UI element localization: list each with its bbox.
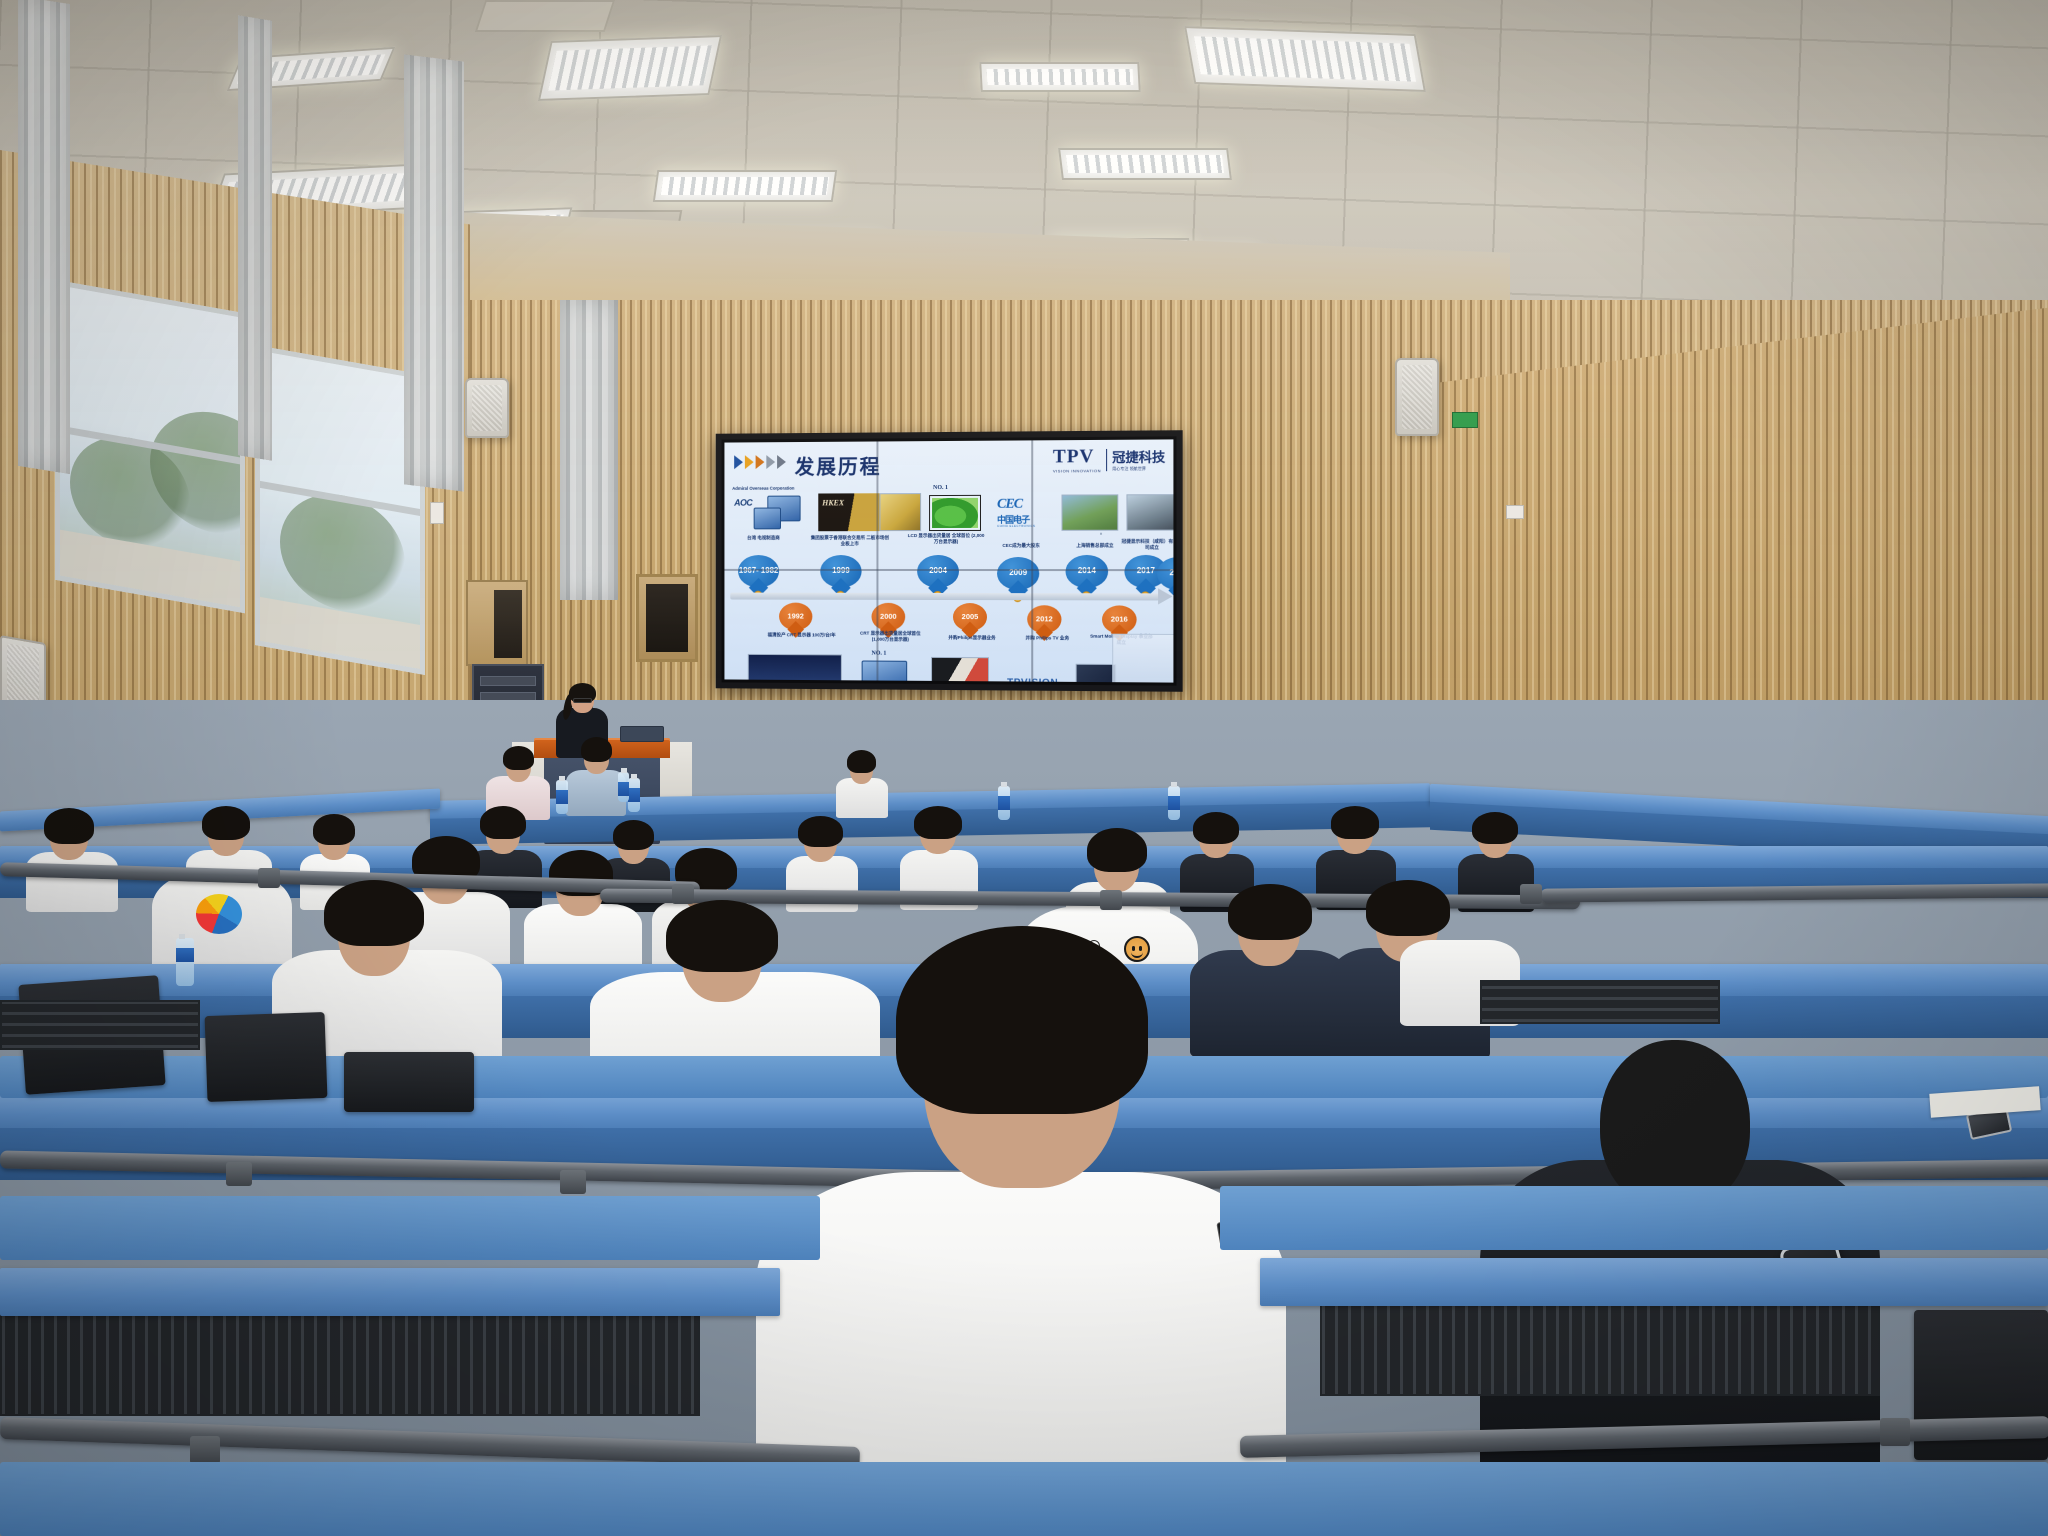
tpv-tagline-en: VISION INNOVATION	[1053, 468, 1101, 473]
ceiling-light-fixture	[979, 62, 1141, 92]
audience-member	[566, 736, 626, 812]
slide-body: Admiral Overseas Corporation AOC HKEX NO…	[724, 480, 1173, 683]
water-bottle[interactable]	[556, 780, 568, 814]
chair-back[interactable]	[205, 1012, 328, 1102]
water-bottle[interactable]	[628, 778, 640, 812]
tpv-wordmark: TPV	[1053, 446, 1101, 468]
timeline-caption: 福清投产 CRT 显示器 100万/台/年	[763, 632, 840, 638]
audience-member-colorwheel-tee	[152, 846, 292, 966]
water-bottle[interactable]	[1168, 786, 1180, 820]
window	[255, 345, 425, 675]
logo-divider	[1106, 448, 1107, 470]
ceiling-vent	[475, 0, 615, 32]
spacer	[1100, 533, 1102, 535]
tpv-wordmark-cn: 冠捷科技	[1112, 447, 1165, 467]
crt-monitor-graphic	[862, 661, 908, 683]
window	[55, 280, 245, 614]
desk-grate-shelf	[1320, 1300, 1880, 1396]
timeline-caption: 上海销售总部成立	[1061, 543, 1128, 549]
podium-monitor[interactable]	[620, 726, 664, 742]
water-bottle[interactable]	[998, 786, 1010, 820]
water-bottle[interactable]	[618, 772, 629, 802]
ceiling-light-fixture	[653, 170, 837, 202]
timeline-caption: CRT 显示器出货量居全球首位 (1,000万台显示器)	[856, 631, 925, 643]
glasses-icon	[573, 698, 592, 703]
presentation-slide: 发展历程 TPV VISION INNOVATION 冠捷科技 用心专注 领航世…	[724, 439, 1173, 682]
video-wall-display[interactable]: 发展历程 TPV VISION INNOVATION 冠捷科技 用心专注 领航世…	[716, 430, 1183, 692]
tshirt-graphic	[196, 894, 242, 934]
timeline-pin-blue: 1967- 1982	[738, 555, 779, 595]
water-bottle[interactable]	[176, 938, 194, 986]
ceiling-light-fixture	[1184, 26, 1426, 92]
timeline-pin-orange: 2005	[953, 603, 987, 637]
light-switch-plate[interactable]	[430, 502, 444, 524]
ceiling-light-fixture	[1058, 148, 1232, 180]
rail-clamp	[1880, 1418, 1910, 1446]
panel-bezel	[724, 569, 1173, 571]
av-cabinet	[466, 580, 528, 666]
aoc-logo: AOC	[734, 498, 752, 508]
tpv-brand-logo: TPV VISION INNOVATION 冠捷科技 用心专注 领航世界	[1053, 446, 1165, 474]
rail-clamp	[1100, 890, 1122, 910]
timeline-pin-blue: 2004	[917, 555, 959, 595]
rail-clamp	[1520, 884, 1542, 904]
bench-row	[1220, 1186, 2048, 1250]
ceremony-photo	[748, 654, 842, 683]
timeline-pin-blue: 2014	[1066, 555, 1109, 595]
chevron-arrows-icon	[734, 455, 786, 469]
curtain[interactable]	[18, 0, 70, 474]
curtain[interactable]	[238, 15, 272, 460]
timeline-caption: 并购Philips显示器业务	[939, 635, 1005, 641]
xianyang-factory-photo	[1126, 494, 1173, 531]
panel-bezel	[1031, 440, 1033, 681]
slide-reflection-panel	[1112, 634, 1173, 683]
panel-bezel	[876, 441, 878, 680]
rail-clamp	[560, 1170, 586, 1194]
hkex-photo: HKEX	[818, 493, 881, 531]
timeline-caption: CEC成为最大股东	[985, 543, 1057, 549]
lecture-hall-photo: 发展历程 TPV VISION INNOVATION 冠捷科技 用心专注 领航世…	[0, 0, 2048, 1536]
timeline-year: 2020	[1157, 557, 1173, 590]
philips-products-photo	[931, 657, 989, 683]
slide-header: 发展历程 TPV VISION INNOVATION 冠捷科技 用心专注 领航世…	[724, 439, 1173, 484]
timeline-pin-blue: 1999	[820, 555, 861, 595]
exit-sign	[1452, 412, 1478, 428]
rail-clamp	[190, 1436, 220, 1464]
no1-label: NO. 1	[872, 651, 887, 657]
certificate-photo	[879, 493, 921, 531]
light-switch-plate[interactable]	[1506, 505, 1524, 519]
curtain[interactable]	[404, 54, 464, 491]
bench-row	[0, 1196, 820, 1260]
timeline-caption: 冠捷显示科技（咸阳）有限公司成立	[1120, 539, 1173, 551]
ceiling-light-fixture	[538, 35, 722, 101]
timeline-caption: 台湾 电视制造商	[732, 535, 794, 541]
audience-member	[26, 808, 118, 904]
timeline-caption: 并购 Philips TV 业务	[1015, 635, 1080, 641]
wall-speaker-center	[465, 378, 509, 438]
slide-title: 发展历程	[795, 450, 882, 479]
bench-row-front	[0, 1462, 2048, 1536]
cec-logo: CEC	[997, 497, 1022, 513]
audience-member	[486, 744, 550, 814]
timeline-axis	[730, 593, 1159, 601]
wall-speaker-right	[1395, 358, 1439, 436]
no1-label: NO. 1	[933, 485, 948, 491]
desk-row	[1260, 1258, 2048, 1306]
chair-back[interactable]	[344, 1052, 474, 1112]
audience-member-foreground	[756, 926, 1286, 1536]
audience-member	[836, 748, 888, 814]
smart-mobile-display-photo	[1076, 664, 1117, 683]
crt-tv-graphic	[754, 508, 781, 530]
lcd-monitor-graphic	[929, 495, 981, 531]
admiral-overseas-label: Admiral Overseas Corporation	[732, 486, 794, 491]
wall-picture-frame	[636, 574, 698, 662]
desk-grate-shelf	[1480, 980, 1720, 1024]
curtain[interactable]	[560, 300, 618, 600]
timeline-caption: LCD 显示器出货量居 全球首位 (2,000万台显示器)	[907, 533, 985, 545]
desk-grate-shelf	[0, 1310, 700, 1416]
rail-clamp	[226, 1162, 252, 1186]
desk-grate-shelf	[0, 1000, 200, 1050]
tpv-tagline-cn: 用心专注 领航世界	[1112, 466, 1165, 472]
cec-logo-en: CHINA ELECTRONICS	[997, 524, 1035, 528]
desk-row	[0, 1268, 780, 1316]
shanghai-hq-photo	[1061, 494, 1118, 530]
